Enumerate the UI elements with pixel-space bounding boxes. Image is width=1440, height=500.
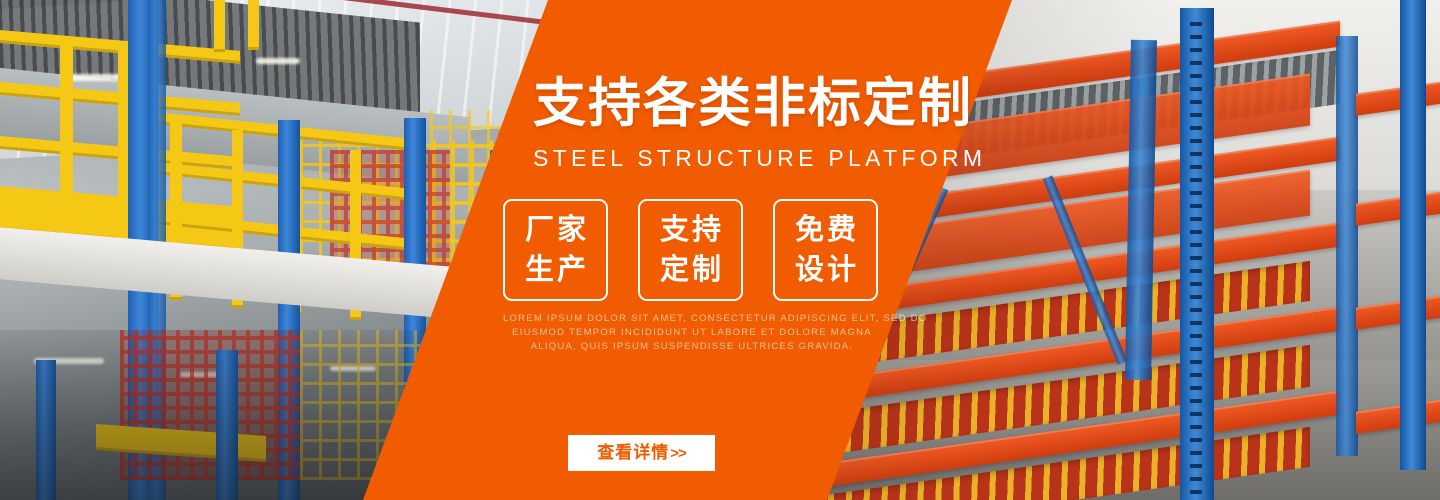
- view-details-button[interactable]: 查看详情 >>: [568, 435, 715, 471]
- banner-subheadline: STEEL STRUCTURE PLATFORM: [533, 145, 986, 171]
- legal-line: ALIQUA, QUIS IPSUM SUSPENDISSE ULTRICES …: [503, 340, 881, 354]
- double-chevron-right-icon: >>: [670, 445, 686, 462]
- feature-tag-line1: 支持: [657, 210, 724, 250]
- banner-content: 支持各类非标定制 STEEL STRUCTURE PLATFORM 厂家 生产 …: [0, 0, 1440, 500]
- legal-text-block: LOREM IPSUM DOLOR SIT AMET, CONSECTETUR …: [503, 312, 881, 354]
- feature-tag-line2: 定制: [657, 250, 724, 290]
- feature-tag-free-design: 免费 设计: [773, 199, 878, 301]
- banner-headline: 支持各类非标定制: [533, 74, 973, 134]
- feature-tag-row: 厂家 生产 支持 定制 免费 设计: [503, 199, 878, 301]
- promo-banner: 支持各类非标定制 STEEL STRUCTURE PLATFORM 厂家 生产 …: [0, 0, 1440, 500]
- feature-tag-line2: 设计: [792, 250, 859, 290]
- view-details-label: 查看详情: [597, 443, 669, 463]
- feature-tag-line1: 免费: [792, 210, 859, 250]
- feature-tag-customization: 支持 定制: [638, 199, 743, 301]
- legal-line: LOREM IPSUM DOLOR SIT AMET, CONSECTETUR …: [503, 312, 881, 326]
- legal-line: EIUSMOD TEMPOR INCIDIDUNT UT LABORE ET D…: [503, 326, 881, 340]
- feature-tag-line1: 厂家: [522, 210, 589, 250]
- feature-tag-manufacturer: 厂家 生产: [503, 199, 608, 301]
- feature-tag-line2: 生产: [522, 250, 589, 290]
